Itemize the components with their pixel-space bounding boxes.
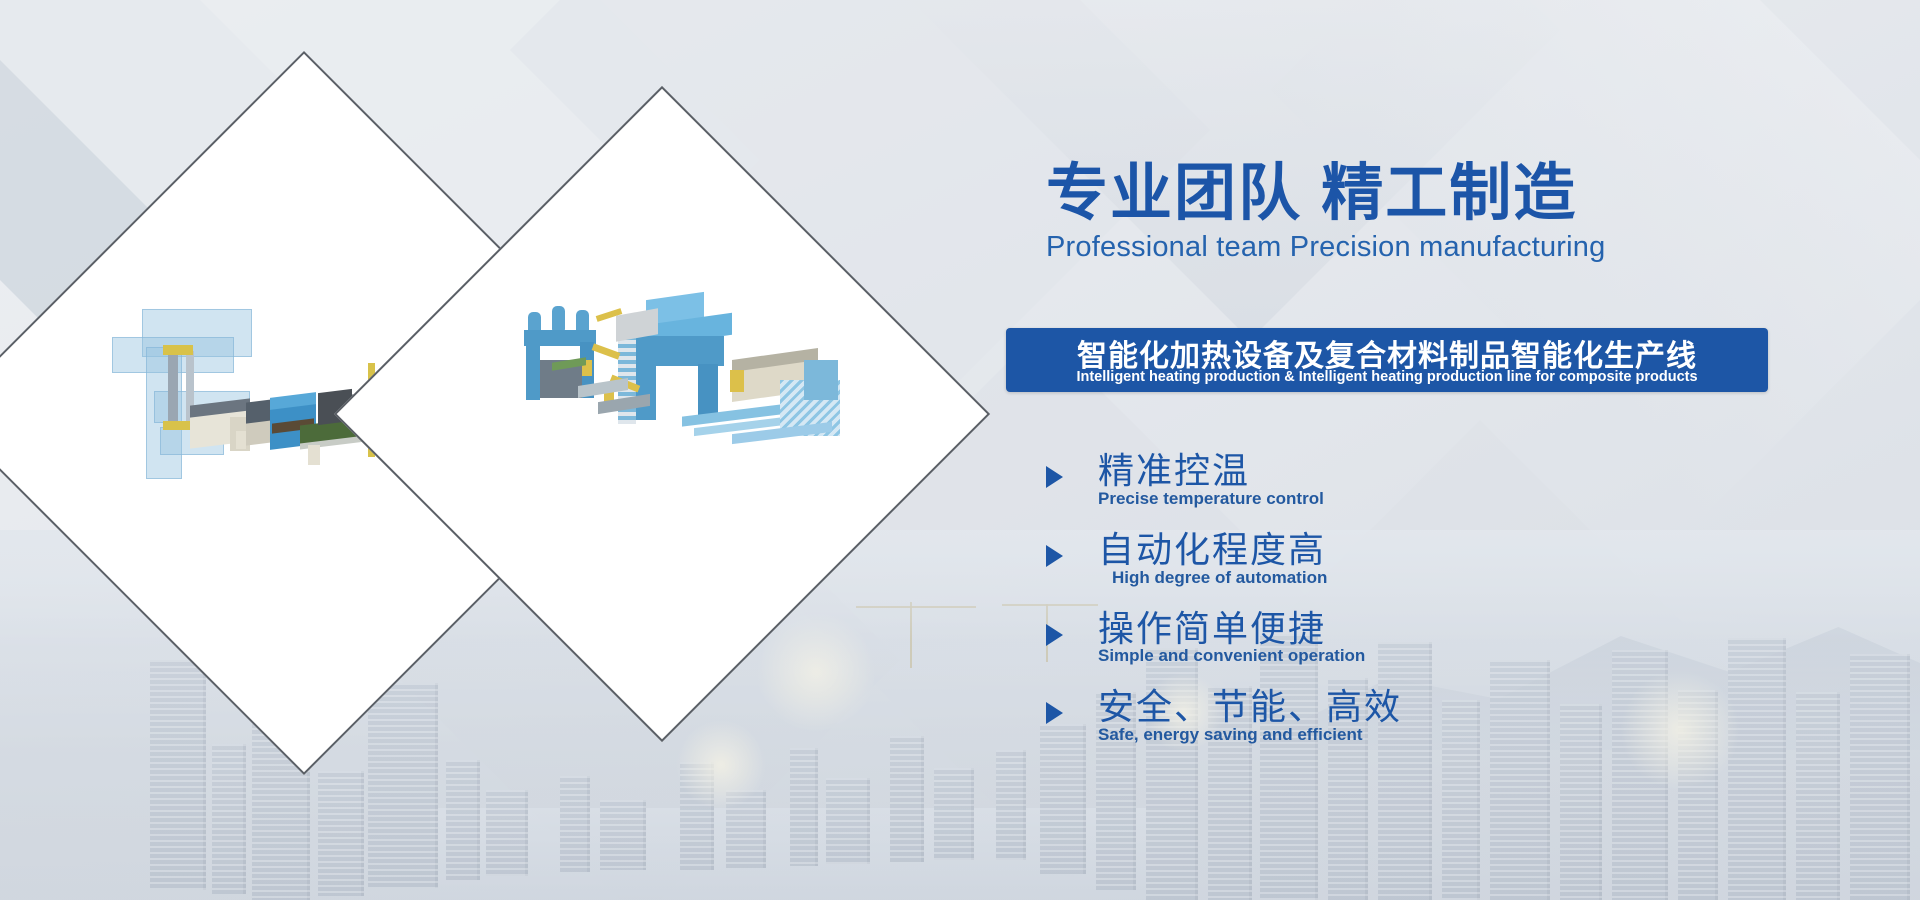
product-title-bar: 智能化加热设备及复合材料制品智能化生产线 Intelligent heating… [1006, 328, 1768, 392]
feature-4-cn: 安全、节能、高效 [1098, 688, 1402, 726]
triangle-right-icon [1046, 545, 1063, 567]
feature-item-4: 安全、节能、高效 Safe, energy saving and efficie… [1046, 688, 1402, 745]
triangle-right-icon [1046, 702, 1063, 724]
feature-2-cn: 自动化程度高 [1098, 531, 1402, 569]
production-line-render-2 [432, 184, 892, 644]
feature-item-2: 自动化程度高 High degree of automation [1046, 531, 1402, 588]
feature-2-en: High degree of automation [1112, 568, 1402, 588]
triangle-right-icon [1046, 466, 1063, 488]
feature-1-en: Precise temperature control [1098, 489, 1402, 509]
feature-3-en: Simple and convenient operation [1098, 646, 1402, 666]
feature-1-cn: 精准控温 [1098, 452, 1402, 490]
triangle-right-icon [1046, 624, 1063, 646]
hero-banner: 专业团队 精工制造 Professional team Precision ma… [0, 0, 1920, 900]
feature-3-cn: 操作简单便捷 [1098, 610, 1402, 648]
feature-4-en: Safe, energy saving and efficient [1098, 725, 1402, 745]
feature-list: 精准控温 Precise temperature control 自动化程度高 … [1046, 452, 1402, 767]
feature-item-1: 精准控温 Precise temperature control [1046, 452, 1402, 509]
headline-en: Professional team Precision manufacturin… [1046, 231, 1605, 264]
product-title-en: Intelligent heating production & Intelli… [1076, 369, 1697, 385]
headline-block: 专业团队 精工制造 Professional team Precision ma… [1046, 163, 1605, 264]
headline-cn: 专业团队 精工制造 [1046, 163, 1605, 225]
feature-item-3: 操作简单便捷 Simple and convenient operation [1046, 610, 1402, 667]
